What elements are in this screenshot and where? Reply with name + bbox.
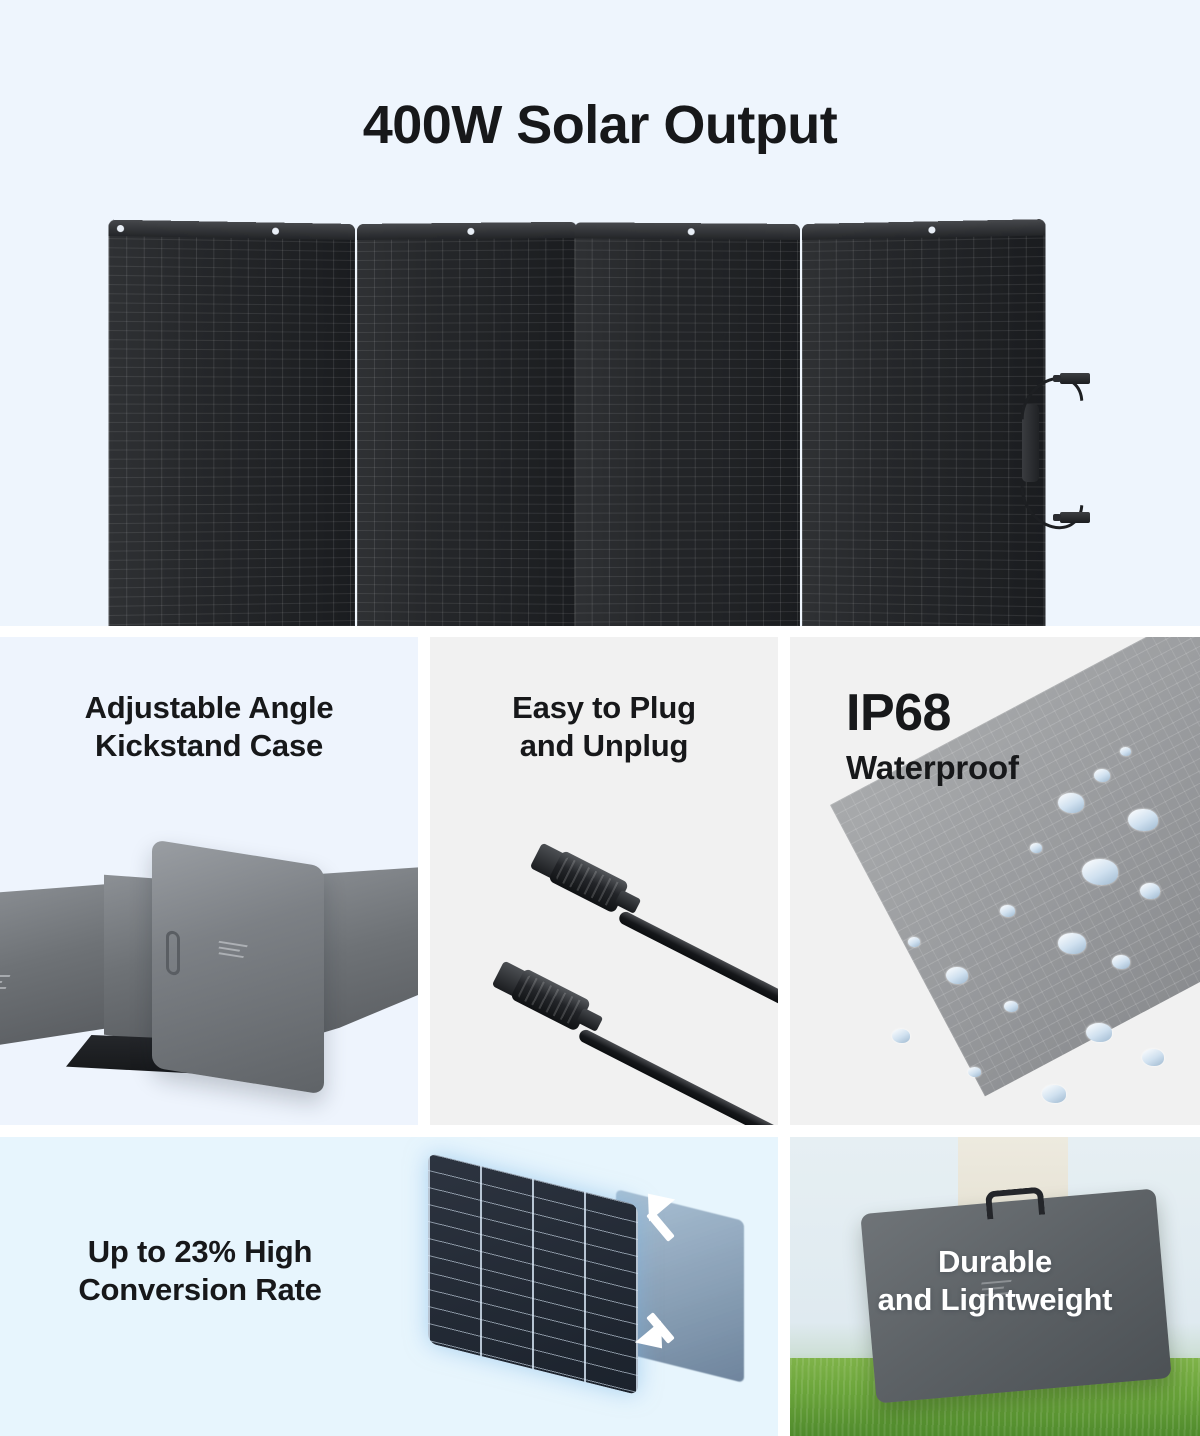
feature-title-waterproof: IP68 [846,683,951,743]
water-droplet [908,937,920,947]
solar-cell-image [410,1161,778,1436]
grommet-icon [928,226,935,233]
water-droplet [946,967,968,984]
water-droplet [1128,809,1158,831]
water-droplet [1000,905,1015,917]
water-droplet [1094,769,1110,782]
water-droplet [1042,1085,1066,1103]
mc4-connector-icon [485,953,609,1044]
panel-leaf [802,219,1045,626]
feature-title-plug: Easy to Plug and Unplug [430,689,778,765]
grommet-icon [117,225,124,232]
mc4-connector-icon [523,835,647,926]
feature-title-conversion: Up to 23% High Conversion Rate [0,1233,400,1309]
carry-handle-icon [985,1187,1045,1220]
page-title: 400W Solar Output [0,96,1200,155]
water-droplet [1140,883,1160,899]
panel-leaf [574,222,800,626]
water-droplet [1120,747,1131,756]
water-droplet [1112,955,1130,969]
water-droplet [892,1029,910,1043]
grommet-icon [688,228,695,235]
feature-tile-plug: Easy to Plug and Unplug [430,637,778,1125]
water-droplet [1004,1001,1018,1012]
panel-leaf [109,220,355,626]
ecoflow-logo-icon [0,973,14,993]
feature-title-kickstand: Adjustable Angle Kickstand Case [0,689,418,765]
water-droplet [1058,933,1086,954]
feature-subtitle-waterproof: Waterproof [846,749,1019,787]
mc4-connector-icon [1060,373,1090,384]
grommet-icon [272,228,279,235]
water-droplet [1142,1049,1164,1066]
solar-cable [617,910,778,1058]
feature-tile-waterproof: IP68 Waterproof [790,637,1200,1125]
case-handle-icon [166,930,180,976]
kickstand-case-image [0,837,418,1125]
mc4-connector-icon [1060,512,1090,523]
water-droplet [1082,859,1118,885]
solar-panel-image [112,224,1042,626]
product-infographic: 400W Solar Output Adjustable Angle [0,0,1200,1436]
solar-cable [577,1028,778,1125]
hero-section: 400W Solar Output [0,0,1200,626]
water-droplet [1030,843,1042,853]
water-droplet [1086,1023,1112,1042]
panel-leaf [357,222,577,626]
water-droplet [1058,793,1084,813]
feature-tile-durable: Durable and Lightweight [790,1137,1200,1436]
feature-tile-kickstand: Adjustable Angle Kickstand Case [0,637,418,1125]
feature-tile-conversion: Up to 23% High Conversion Rate [0,1137,778,1436]
water-droplet [968,1067,981,1077]
solar-cell-layer-front [428,1153,638,1395]
feature-title-durable: Durable and Lightweight [790,1243,1200,1320]
grommet-icon [467,228,474,235]
